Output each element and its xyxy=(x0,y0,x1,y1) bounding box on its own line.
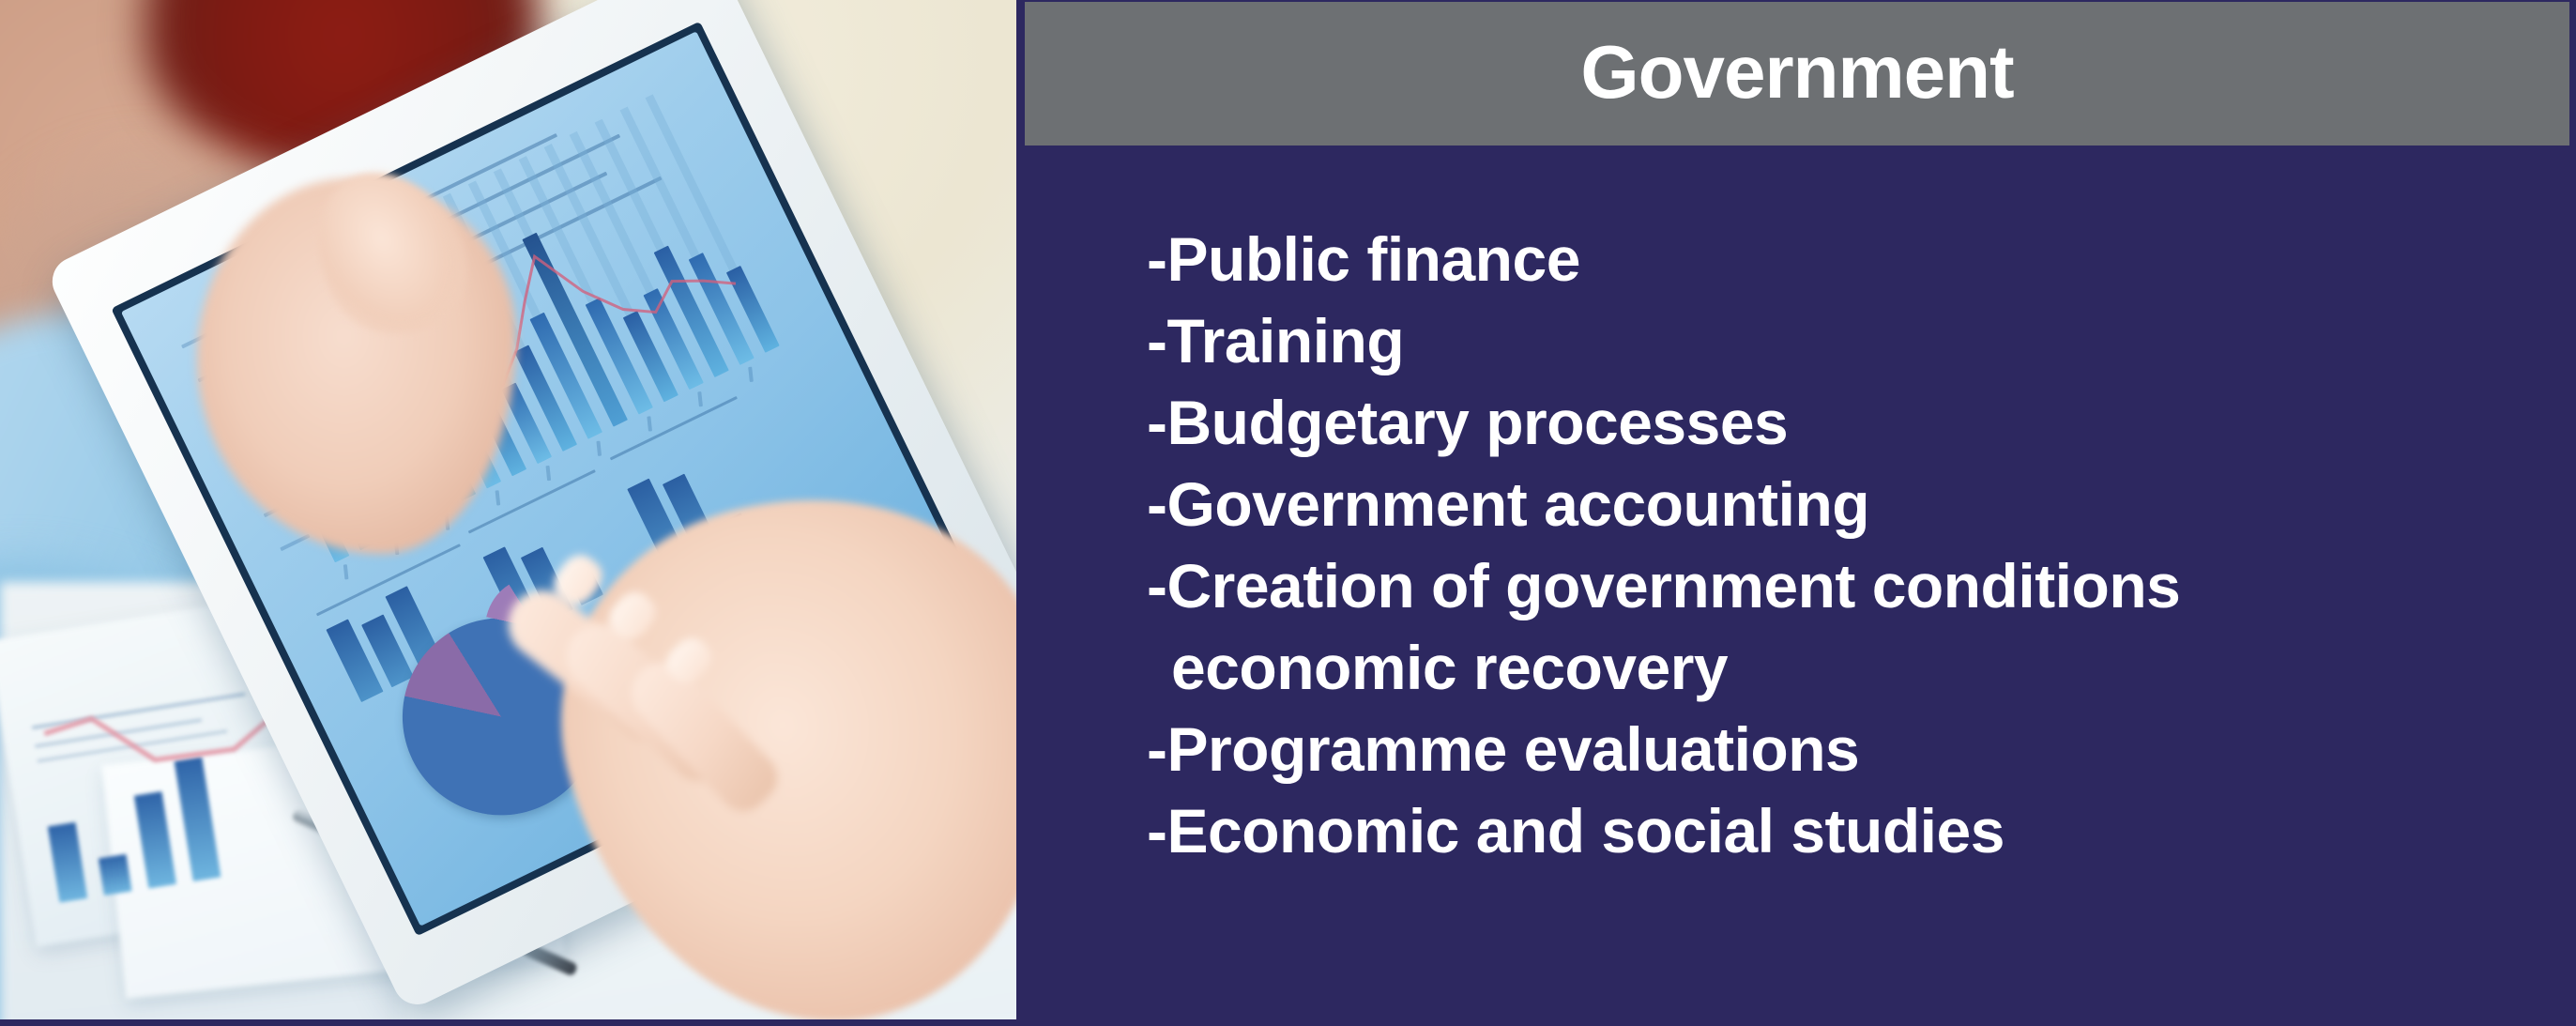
bullet-item: -Training xyxy=(1147,300,2180,382)
content-panel: -Public finance-Training-Budgetary proce… xyxy=(1025,145,2576,1026)
bullet-item: -Government accounting xyxy=(1147,464,2180,545)
page-title: Government xyxy=(1580,35,2013,110)
bullet-item: -Creation of government conditions xyxy=(1147,545,2180,627)
bullet-item: economic recovery xyxy=(1147,627,2180,709)
header-band: Government xyxy=(1025,2,2569,145)
bullet-item: -Economic and social studies xyxy=(1147,790,2180,872)
bullet-item: -Programme evaluations xyxy=(1147,709,2180,790)
bullet-item: -Public finance xyxy=(1147,219,2180,300)
bullet-list: -Public finance-Training-Budgetary proce… xyxy=(1147,219,2180,872)
bullet-item: -Budgetary processes xyxy=(1147,382,2180,464)
business-analytics-tablet-photo xyxy=(0,0,1020,1023)
slide-root: Government -Public finance-Training-Budg… xyxy=(0,0,2576,1026)
